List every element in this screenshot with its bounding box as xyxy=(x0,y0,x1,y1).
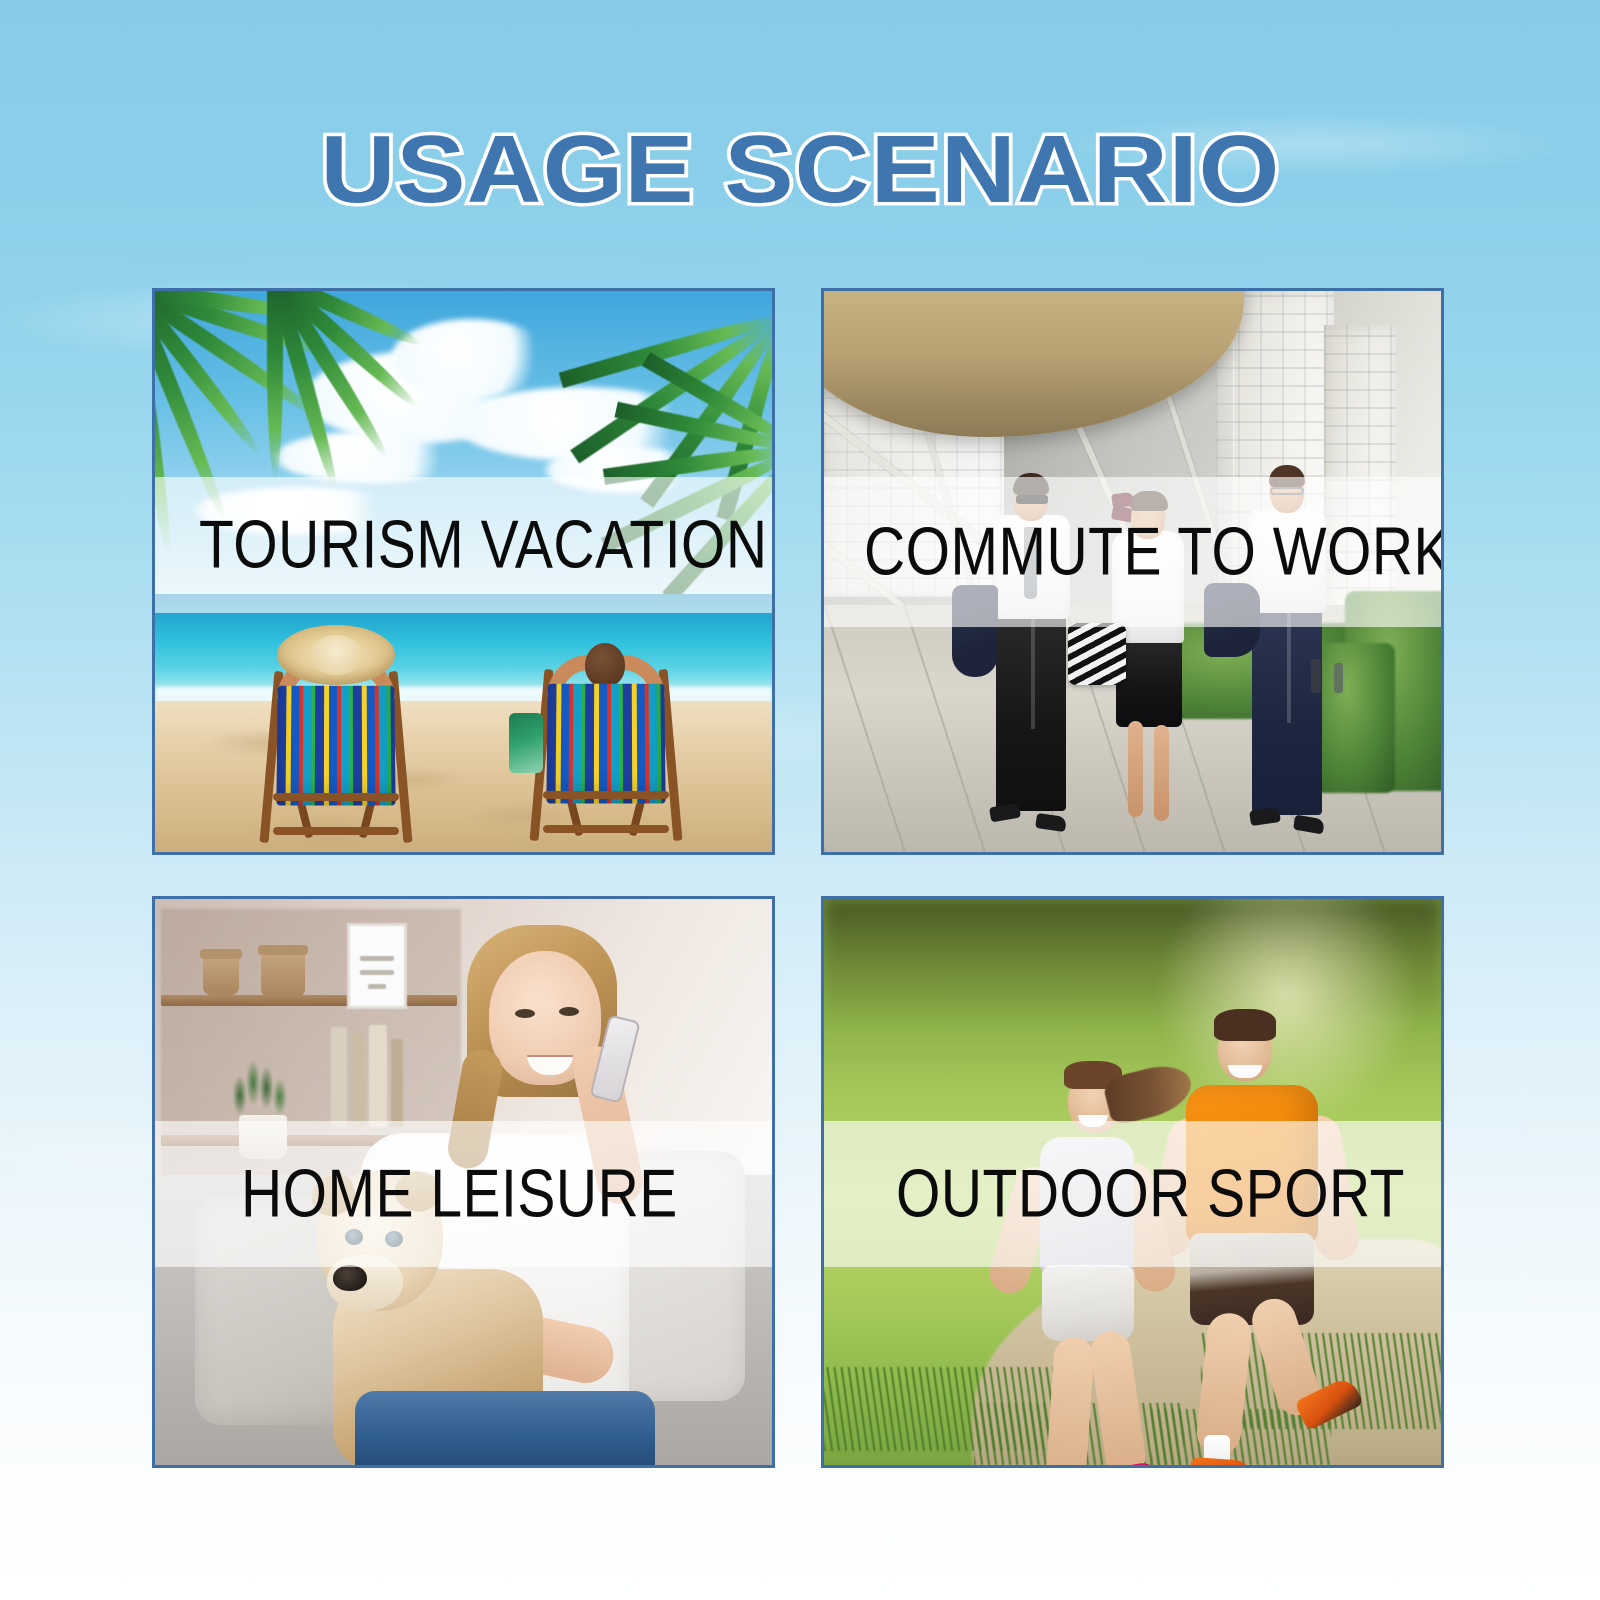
dog-nose xyxy=(333,1265,367,1291)
scenario-card-tourism[interactable]: TOURISM VACATION xyxy=(152,288,775,855)
card-label-tourism: TOURISM VACATION xyxy=(199,510,768,581)
usage-scenario-poster: USAGE SCENARIO xyxy=(0,0,1600,1600)
page-title: USAGE SCENARIO xyxy=(320,118,1280,222)
picture-frame xyxy=(347,923,407,1009)
card-label-band: OUTDOOR SPORT xyxy=(824,1121,1441,1267)
card-label-home: HOME LEISURE xyxy=(241,1159,678,1230)
deck-chair-left xyxy=(263,643,409,833)
shelf-board xyxy=(161,995,457,1006)
deck-chair-right xyxy=(533,641,679,831)
scenario-card-home[interactable]: HOME LEISURE xyxy=(152,896,775,1468)
book xyxy=(369,1025,387,1127)
runner-hair xyxy=(1214,1009,1276,1041)
scenario-card-commute[interactable]: COMMUTE TO WORK xyxy=(821,288,1444,855)
potted-plant xyxy=(225,1057,299,1121)
book xyxy=(331,1027,347,1127)
scenario-grid: TOURISM VACATION xyxy=(152,288,1444,1468)
woman-eye xyxy=(515,1009,535,1018)
cloud-shape xyxy=(391,319,551,397)
book xyxy=(351,1033,365,1127)
card-label-band: TOURISM VACATION xyxy=(155,477,772,613)
card-label-band: HOME LEISURE xyxy=(155,1121,772,1267)
hedge xyxy=(1315,643,1395,793)
beach-towel xyxy=(509,713,543,773)
sun-hat xyxy=(277,625,395,685)
card-label-commute: COMMUTE TO WORK xyxy=(864,517,1444,588)
distant-pedestrian xyxy=(1311,659,1321,693)
blue-jeans xyxy=(355,1391,655,1465)
storage-jar xyxy=(203,955,239,995)
scenario-card-outdoor[interactable]: OUTDOOR SPORT xyxy=(821,896,1444,1468)
white-shorts xyxy=(1042,1265,1134,1341)
cloud-shape xyxy=(275,431,465,483)
woman-eye xyxy=(559,1007,579,1016)
book xyxy=(391,1039,403,1127)
storage-jar xyxy=(261,951,305,997)
card-label-outdoor: OUTDOOR SPORT xyxy=(896,1159,1405,1230)
distant-pedestrian xyxy=(1334,663,1343,693)
card-label-band: COMMUTE TO WORK xyxy=(824,477,1441,627)
striped-handbag xyxy=(1068,623,1126,685)
page-title-container: USAGE SCENARIO xyxy=(0,118,1600,222)
